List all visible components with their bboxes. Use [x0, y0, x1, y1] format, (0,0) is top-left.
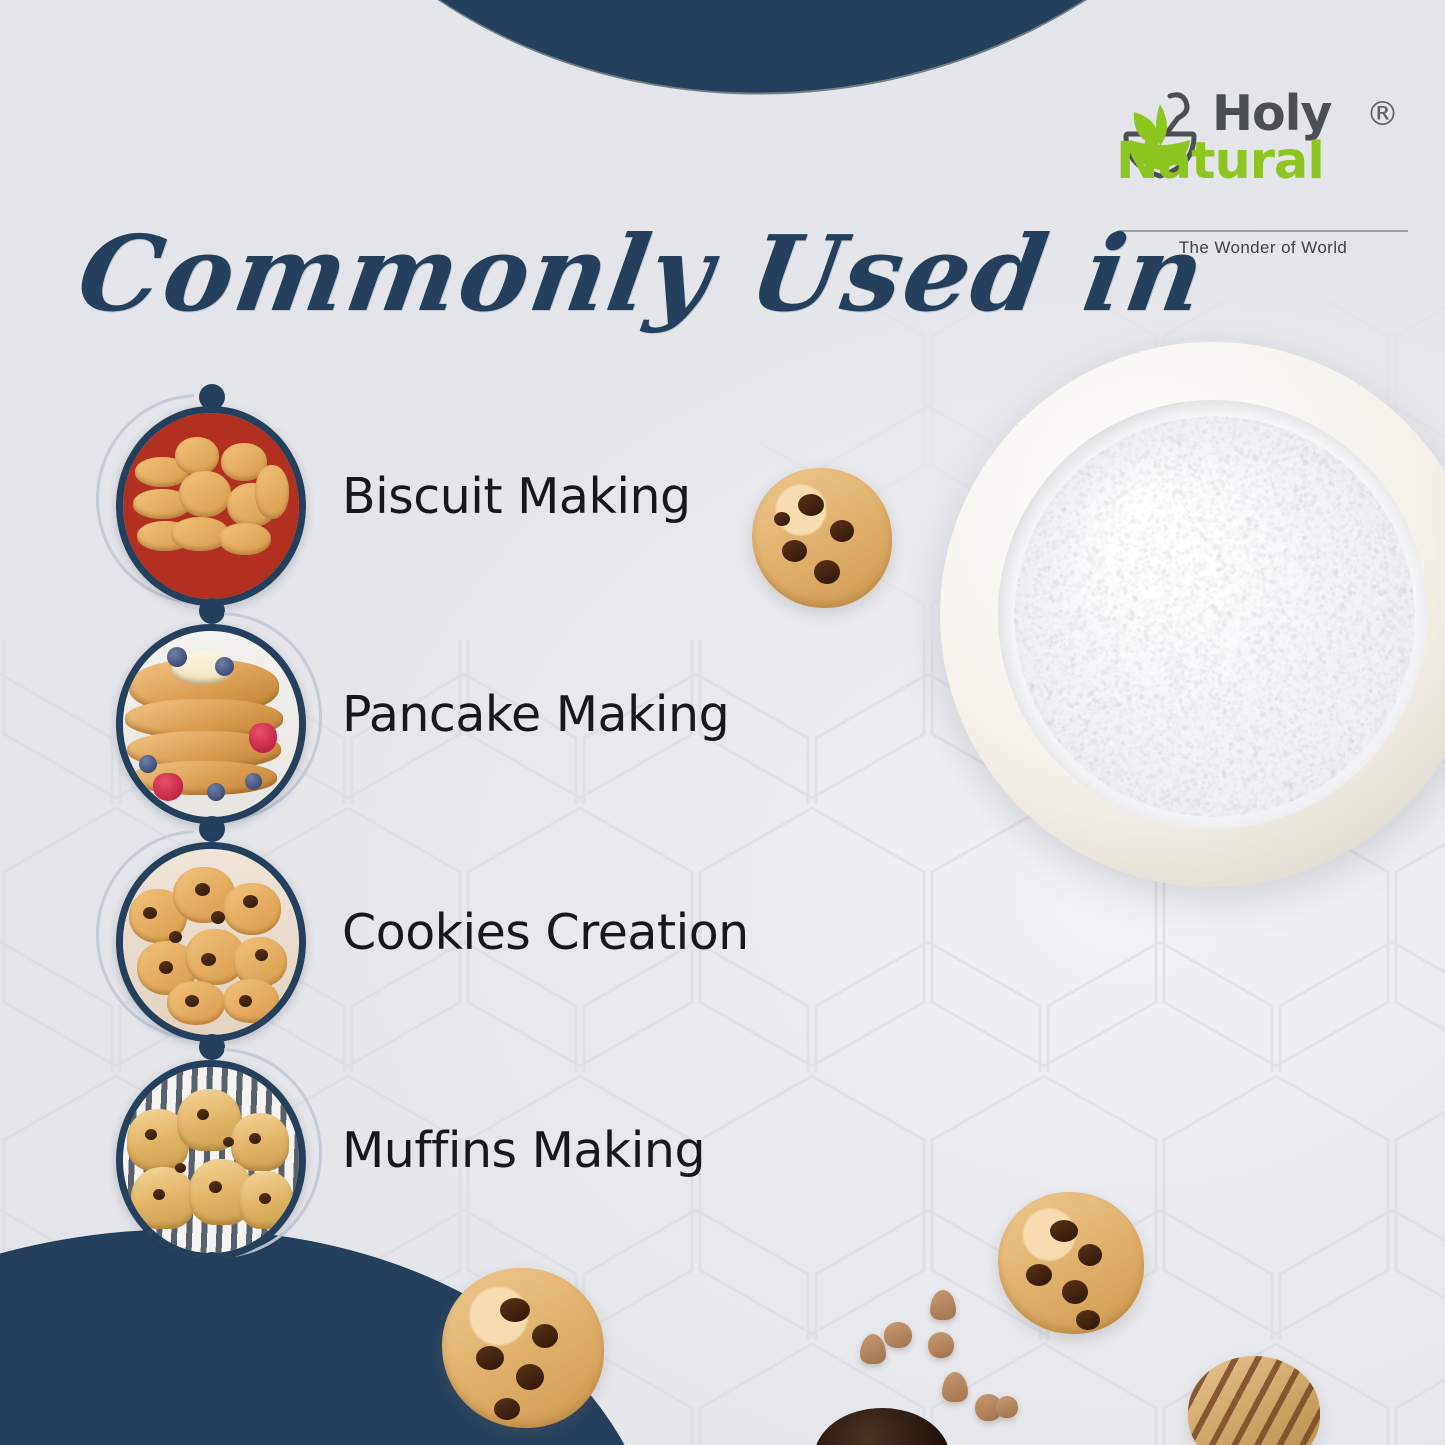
bowl-of-powder-photo — [940, 342, 1445, 887]
thumbnail — [104, 834, 304, 1034]
connector-dot — [199, 1252, 225, 1278]
list-item[interactable]: Muffins Making — [96, 1052, 856, 1267]
drizzle-cookie-bottom-right — [1188, 1356, 1320, 1445]
white-powder — [1014, 416, 1415, 817]
list-item-label: Pancake Making — [342, 686, 862, 743]
chocolate-chip-muffins-photo — [116, 1060, 306, 1260]
list-item[interactable]: Biscuit Making — [96, 398, 856, 613]
biscuits-in-red-bowl-photo — [116, 406, 306, 606]
list-item[interactable]: Cookies Creation — [96, 834, 856, 1049]
floating-cookie-bottom-right — [998, 1192, 1144, 1334]
chocolate-chip-cookies-pile-photo — [116, 842, 306, 1042]
floating-cookie-bottom-left — [442, 1268, 604, 1428]
list-item-label: Muffins Making — [342, 1122, 862, 1179]
registered-trademark-icon: ® — [1366, 94, 1399, 133]
uses-list: Biscuit Making — [96, 398, 856, 1268]
pancake-stack-with-berries-photo — [116, 624, 306, 824]
brand-name-line2: Natural — [1116, 137, 1412, 187]
list-item[interactable]: Pancake Making — [96, 616, 856, 831]
dark-cookie-bottom — [814, 1408, 950, 1445]
page-title: Commonly Used in — [70, 212, 1089, 335]
thumbnail — [104, 616, 304, 816]
infographic-canvas: Holy Natural ® The Wonder of World Commo… — [0, 0, 1445, 1445]
thumbnail — [104, 1052, 304, 1252]
floating-cookie-top — [752, 468, 892, 608]
thumbnail — [104, 398, 304, 598]
list-item-label: Cookies Creation — [342, 904, 862, 961]
